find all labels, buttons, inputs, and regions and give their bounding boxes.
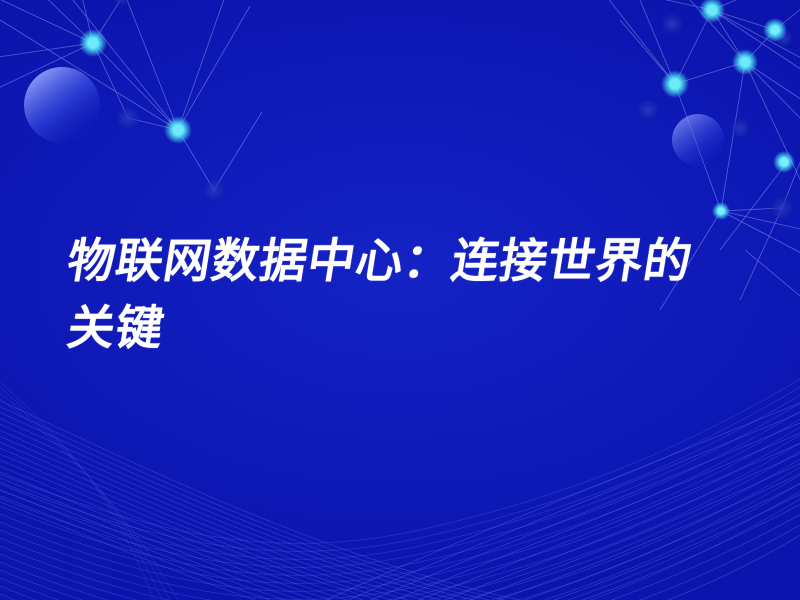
poster-canvas: 物联网数据中心：连接世界的 关键 [0,0,800,600]
page-title: 物联网数据中心：连接世界的 关键 [68,228,740,362]
title-line-1: 物联网数据中心：连接世界的 [63,228,746,295]
title-line-2: 关键 [63,295,746,362]
